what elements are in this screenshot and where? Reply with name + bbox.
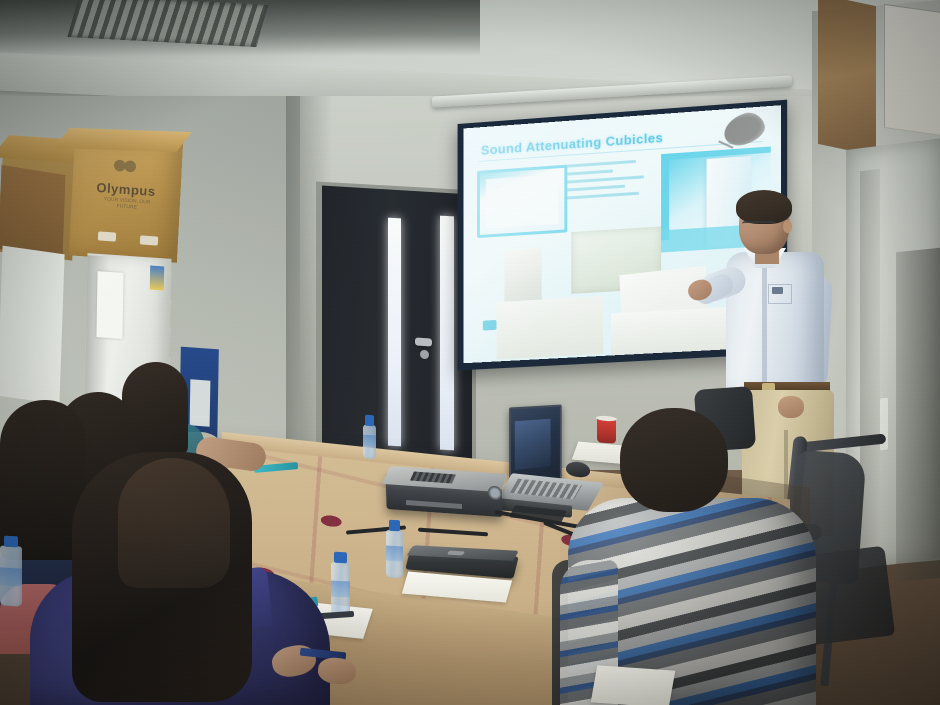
presenter-hair — [736, 190, 792, 224]
water-bottle[interactable] — [331, 552, 350, 617]
box-sticker — [140, 235, 158, 245]
presenter-hand-in-pocket — [778, 396, 804, 418]
white-cabinet-left — [0, 246, 65, 405]
box-print-mark-icon — [112, 157, 139, 175]
door-glass-strip — [388, 218, 401, 447]
bottle-cap-icon — [365, 415, 373, 426]
glasses-icon — [742, 221, 776, 231]
presenter-pocket-badge — [772, 287, 783, 294]
refrigerator-notice-paper — [96, 271, 123, 339]
slide-accent-dot — [483, 320, 497, 331]
wooden-shelf-right — [818, 0, 876, 156]
door-lock-icon[interactable] — [420, 350, 429, 360]
bottle-cap-icon — [4, 536, 18, 548]
laptop-screen-glow — [515, 419, 551, 470]
paper-sheet[interactable] — [591, 665, 676, 705]
bottle-cap-icon — [389, 520, 400, 532]
notice-board-paper — [190, 379, 211, 426]
wooden-panel-left — [0, 165, 65, 259]
bottle-cap-icon — [334, 552, 346, 564]
water-bottle[interactable] — [363, 415, 376, 460]
attendee-hair-front — [118, 458, 230, 588]
water-bottle[interactable] — [0, 535, 22, 606]
slide-thumbnail — [497, 296, 604, 360]
slide-thumbnail — [611, 307, 732, 358]
presenter-shirt-placket — [762, 262, 767, 382]
slide-bullet-block — [565, 159, 651, 205]
box-sticker — [98, 231, 116, 241]
presenter-ear — [783, 220, 792, 233]
wall-poster — [884, 4, 940, 136]
door-glass-strip — [440, 216, 454, 451]
energy-label-icon — [150, 266, 164, 291]
door-handle-icon[interactable] — [415, 337, 432, 346]
right-wall-shadow — [896, 248, 940, 583]
cardboard-box-top-flap — [54, 128, 192, 152]
attendee-head — [620, 408, 728, 512]
red-paper-cup[interactable] — [597, 417, 616, 443]
slide-thumbnail — [477, 165, 567, 238]
laptop-brand-logo-icon — [447, 551, 465, 556]
water-bottle[interactable] — [386, 520, 403, 579]
slide-thumbnail — [504, 248, 541, 302]
meeting-room-photo: Olympus YOUR VISION, OUR FUTURE Sound At… — [0, 0, 940, 705]
